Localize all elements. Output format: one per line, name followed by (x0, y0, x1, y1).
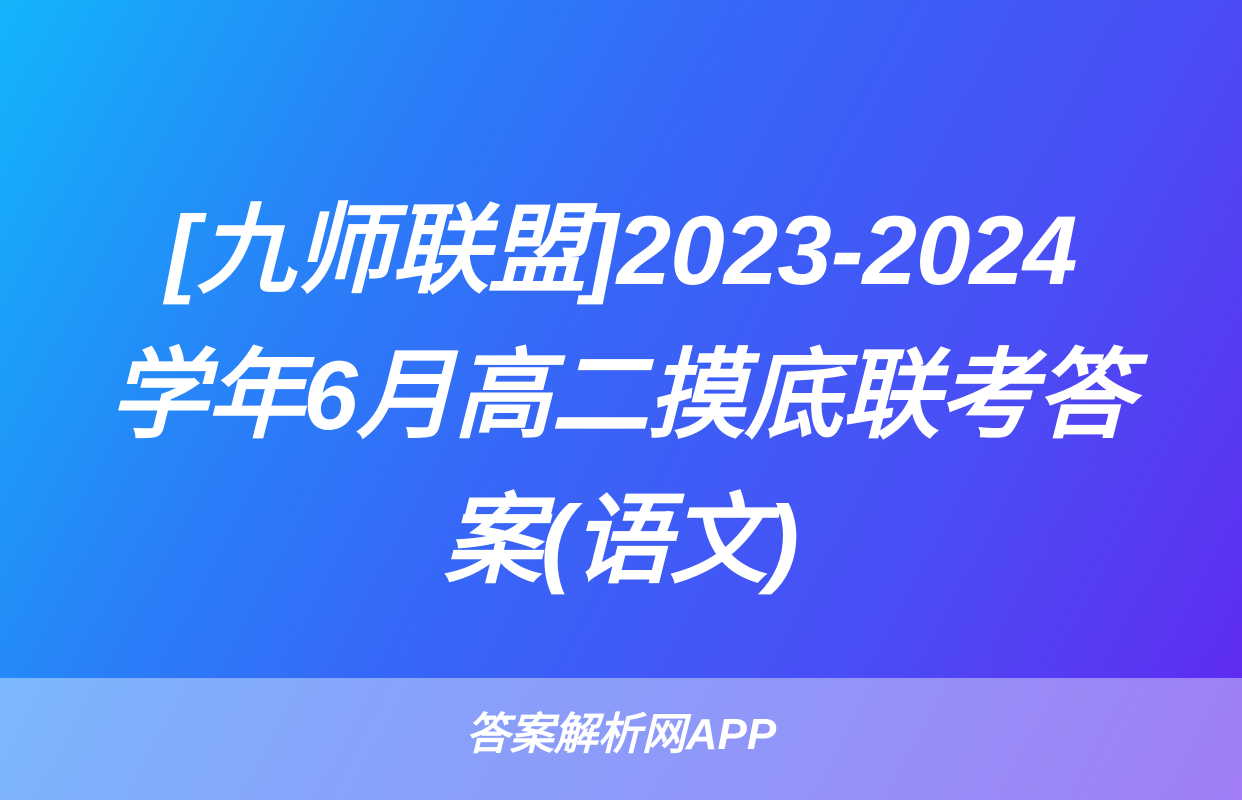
poster-title: [九师联盟]2023-2024 学年6月高二摸底联考答 案(语文) (0, 178, 1242, 613)
app-watermark: 答案解析网APP (0, 707, 1242, 763)
poster-canvas: [九师联盟]2023-2024 学年6月高二摸底联考答 案(语文) 答案解析网A… (0, 0, 1242, 800)
title-line-3: 案(语文) (54, 468, 1188, 613)
title-line-2: 学年6月高二摸底联考答 (54, 323, 1188, 468)
title-line-1: [九师联盟]2023-2024 (54, 178, 1188, 323)
